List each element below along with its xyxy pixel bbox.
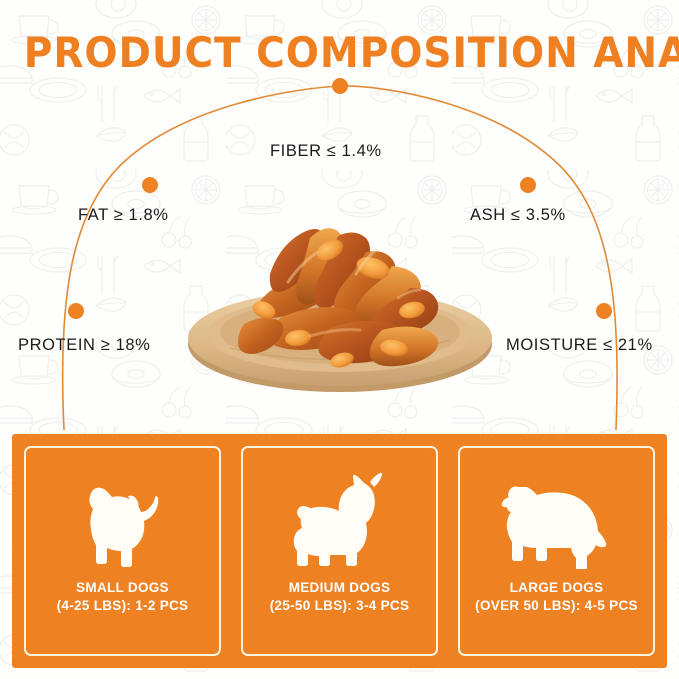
infographic-root: PRODUCT COMPOSITION ANALYSIS FIBER ≤ 1.4…	[0, 0, 679, 679]
nutrient-label-protein: PROTEIN ≥ 18%	[18, 336, 150, 355]
large-dogs-amount-label: (OVER 50 LBS): 4-5 PCS	[475, 597, 638, 615]
nutrient-label-fiber: FIBER ≤ 1.4%	[270, 142, 382, 161]
feeding-card-medium-caption: MEDIUM DOGS (25-50 LBS): 3-4 PCS	[270, 579, 410, 615]
feeding-guide-panel: SMALL DOGS (4-25 LBS): 1-2 PCS MEDIUM DO…	[12, 434, 667, 668]
small-dogs-size-label: SMALL DOGS	[57, 579, 189, 597]
node-dot-ash	[520, 177, 536, 193]
large-dog-silhouette-icon	[497, 461, 617, 573]
feeding-card-small-caption: SMALL DOGS (4-25 LBS): 1-2 PCS	[57, 579, 189, 615]
product-photo-dog-treats	[160, 178, 520, 408]
small-dog-silhouette-icon	[71, 461, 175, 573]
feeding-card-large-dogs[interactable]: LARGE DOGS (OVER 50 LBS): 4-5 PCS	[458, 446, 655, 656]
nutrient-label-moisture: MOISTURE ≤ 21%	[506, 336, 653, 355]
small-dogs-amount-label: (4-25 LBS): 1-2 PCS	[57, 597, 189, 615]
feeding-card-small-dogs[interactable]: SMALL DOGS (4-25 LBS): 1-2 PCS	[24, 446, 221, 656]
node-dot-fat	[142, 177, 158, 193]
medium-dogs-amount-label: (25-50 LBS): 3-4 PCS	[270, 597, 410, 615]
medium-dog-silhouette-icon	[286, 461, 394, 573]
node-dot-moisture	[596, 303, 612, 319]
nutrient-label-fat: FAT ≥ 1.8%	[78, 206, 169, 225]
feeding-card-medium-dogs[interactable]: MEDIUM DOGS (25-50 LBS): 3-4 PCS	[241, 446, 438, 656]
large-dogs-size-label: LARGE DOGS	[475, 579, 638, 597]
feeding-guide-cards: SMALL DOGS (4-25 LBS): 1-2 PCS MEDIUM DO…	[24, 446, 655, 656]
feeding-card-large-caption: LARGE DOGS (OVER 50 LBS): 4-5 PCS	[475, 579, 638, 615]
node-dot-fiber	[332, 78, 348, 94]
medium-dogs-size-label: MEDIUM DOGS	[270, 579, 410, 597]
node-dot-protein	[68, 303, 84, 319]
